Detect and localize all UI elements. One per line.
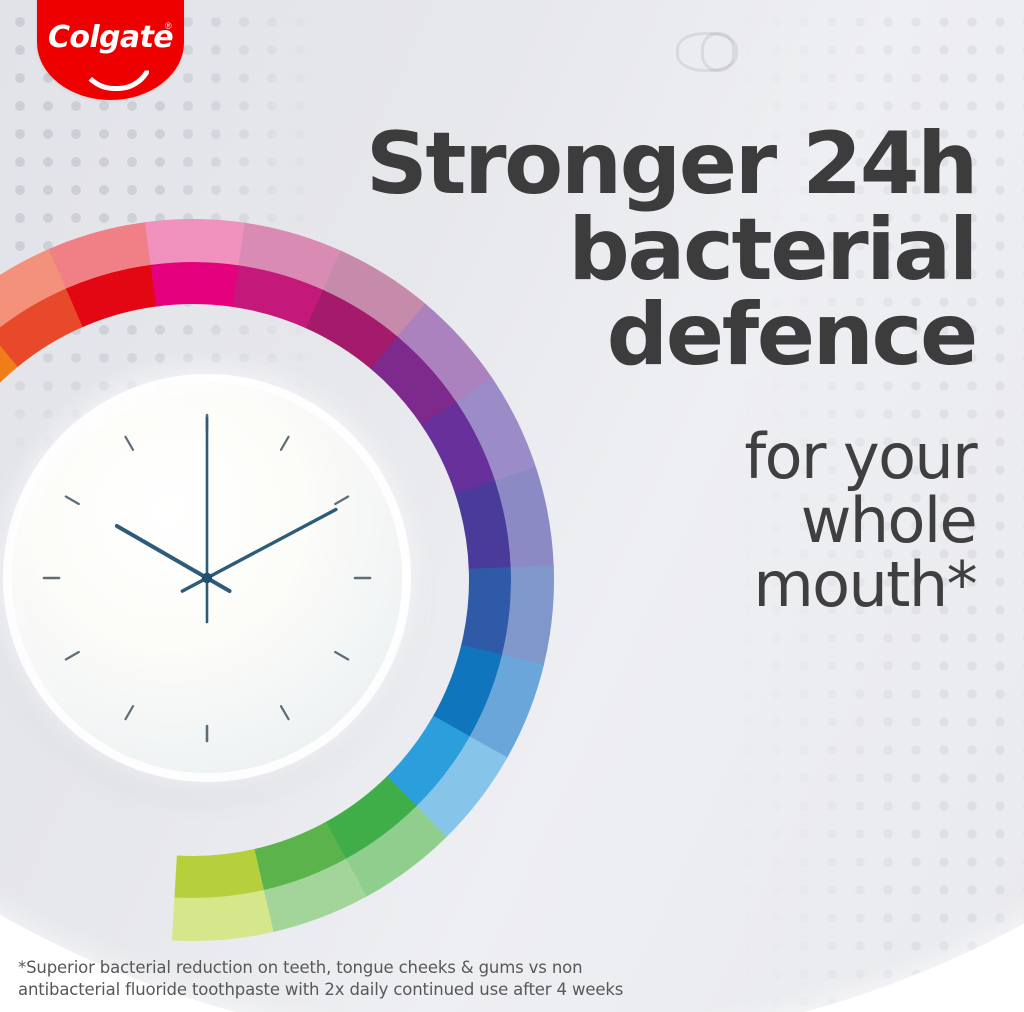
subheading: for your whole mouth* (276, 425, 976, 617)
footnote-line-1: *Superior bacterial reduction on teeth, … (18, 957, 778, 979)
smile-swoosh-icon (78, 55, 154, 91)
subhead-line-2: whole (276, 489, 976, 553)
headline-line-2: bacterial (276, 208, 976, 294)
ad-canvas: Colgate ® Stronger 24h bacterial defence… (0, 0, 1024, 1012)
clock-hour-hand (117, 526, 230, 591)
watermark-icon (676, 32, 738, 72)
subhead-line-3: mouth* (276, 553, 976, 617)
registered-trademark-icon: ® (165, 22, 172, 31)
headline-line-3: defence (276, 293, 976, 379)
legal-footnote: *Superior bacterial reduction on teeth, … (18, 957, 778, 1001)
wheel-segment-inner-lime (174, 849, 264, 898)
wheel-segment-inner-magenta-red (151, 262, 241, 307)
wheel-segment-outer-magenta-red (145, 219, 247, 266)
headline-line-1: Stronger 24h (276, 122, 976, 208)
logo-wordmark: Colgate (37, 23, 184, 53)
page-title: Stronger 24h bacterial defence (276, 122, 976, 379)
footnote-line-2: antibacterial fluoride toothpaste with 2… (18, 979, 778, 1001)
subhead-line-1: for your (276, 425, 976, 489)
clock-center-hub (202, 573, 212, 583)
